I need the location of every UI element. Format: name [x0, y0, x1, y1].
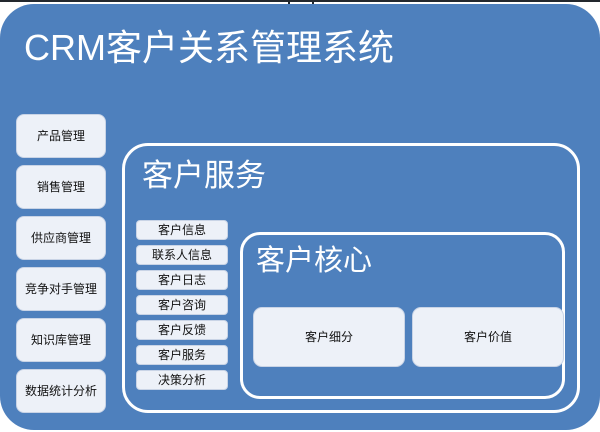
- sidebar-item-label: 竞争对手管理: [25, 282, 97, 296]
- diagram-canvas: CRM客户关系管理系统 产品管理 销售管理 供应商管理 竞争对手管理 知识库管理…: [0, 0, 600, 432]
- service-item-customer-feedback[interactable]: 客户反馈: [136, 320, 228, 340]
- sidebar-item-data-statistics-analysis[interactable]: 数据统计分析: [16, 369, 106, 413]
- service-item-decision-analysis[interactable]: 决策分析: [136, 370, 228, 390]
- sidebar-item-label: 销售管理: [37, 180, 85, 194]
- service-item-customer-log[interactable]: 客户日志: [136, 270, 228, 290]
- service-item-customer-consultation[interactable]: 客户咨询: [136, 295, 228, 315]
- sidebar-item-label: 知识库管理: [31, 333, 91, 347]
- service-item-contact-info[interactable]: 联系人信息: [136, 245, 228, 265]
- sidebar-item-label: 产品管理: [37, 129, 85, 143]
- customer-service-module-list: 客户信息 联系人信息 客户日志 客户咨询 客户反馈 客户服务 决策分析: [136, 220, 228, 398]
- core-item-label: 客户价值: [464, 330, 512, 344]
- customer-core-title: 客户核心: [256, 242, 372, 280]
- service-item-label: 联系人信息: [152, 248, 212, 262]
- core-item-label: 客户细分: [305, 330, 353, 344]
- sidebar-item-competitor-management[interactable]: 竞争对手管理: [16, 267, 106, 311]
- crm-system-panel: CRM客户关系管理系统 产品管理 销售管理 供应商管理 竞争对手管理 知识库管理…: [0, 4, 600, 430]
- service-item-customer-info[interactable]: 客户信息: [136, 220, 228, 240]
- sidebar-item-supplier-management[interactable]: 供应商管理: [16, 216, 106, 260]
- service-item-label: 客户反馈: [158, 323, 206, 337]
- sidebar-item-label: 供应商管理: [31, 231, 91, 245]
- service-item-label: 客户咨询: [158, 298, 206, 312]
- customer-service-title: 客户服务: [142, 156, 266, 196]
- sidebar-item-knowledge-base-management[interactable]: 知识库管理: [16, 318, 106, 362]
- service-item-customer-service[interactable]: 客户服务: [136, 345, 228, 365]
- sidebar: 产品管理 销售管理 供应商管理 竞争对手管理 知识库管理 数据统计分析: [16, 114, 106, 414]
- core-item-customer-value[interactable]: 客户价值: [412, 307, 564, 367]
- top-rule-divider: [0, 0, 600, 2]
- service-item-label: 客户日志: [158, 273, 206, 287]
- sidebar-item-sales-management[interactable]: 销售管理: [16, 165, 106, 209]
- core-item-customer-segmentation[interactable]: 客户细分: [253, 307, 405, 367]
- service-item-label: 决策分析: [158, 373, 206, 387]
- service-item-label: 客户信息: [158, 223, 206, 237]
- page-title: CRM客户关系管理系统: [24, 26, 394, 70]
- sidebar-item-product-management[interactable]: 产品管理: [16, 114, 106, 158]
- sidebar-item-label: 数据统计分析: [25, 384, 97, 398]
- service-item-label: 客户服务: [158, 348, 206, 362]
